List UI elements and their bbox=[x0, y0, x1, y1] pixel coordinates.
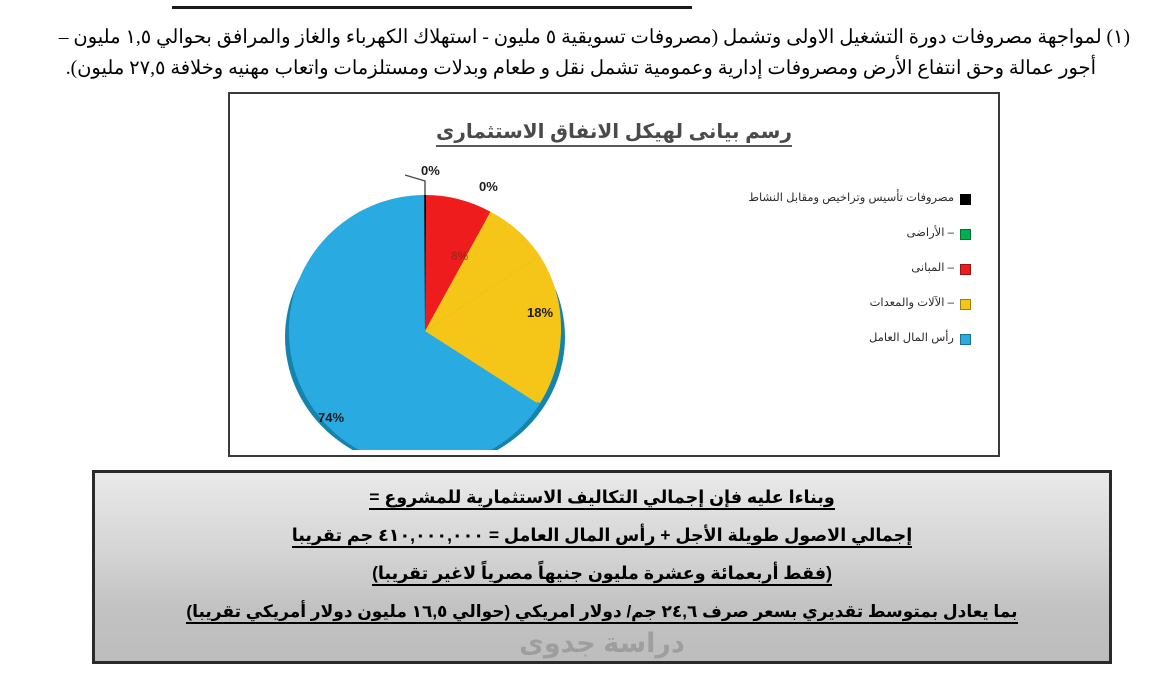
conclusion-line-4-text: بما يعادل بمتوسط تقديري بسعر صرف ٢٤,٦ جم… bbox=[186, 602, 1017, 624]
conclusion-line-3-text: (فقط أربعمائة وعشرة مليون جنيهاً مصرياً … bbox=[372, 563, 832, 586]
pie-label-buildings: 8% bbox=[451, 249, 468, 263]
legend-item-machinery: – الآلات والمعدات bbox=[719, 296, 971, 310]
legend-label-buildings: – المبانى bbox=[911, 261, 954, 275]
chart-frame: رسم بيانى لهيكل الانفاق الاستثمارى bbox=[228, 92, 1000, 457]
legend-swatch-icon-land bbox=[960, 229, 971, 240]
conclusion-line-2: إجمالي الاصول طويلة الأجل + رأس المال ال… bbox=[95, 525, 1109, 546]
pie-chart: 0% 0% 8% 18% 74% bbox=[273, 165, 653, 450]
legend-item-founding: مصروفات تأسيس وتراخيص ومقابل النشاط bbox=[719, 191, 971, 205]
legend-swatch-icon-buildings bbox=[960, 264, 971, 275]
conclusion-line-3: (فقط أربعمائة وعشرة مليون جنيهاً مصرياً … bbox=[95, 563, 1109, 584]
legend-label-land: – الأراضى bbox=[907, 226, 954, 240]
pie-label-machinery: 18% bbox=[527, 305, 553, 320]
legend-item-land: – الأراضى bbox=[719, 226, 971, 240]
pie-label-land: 0% bbox=[479, 179, 498, 194]
legend-label-machinery: – الآلات والمعدات bbox=[870, 296, 954, 310]
legend-swatch-icon-working-capital bbox=[960, 334, 971, 345]
conclusion-line-2-text: إجمالي الاصول طويلة الأجل + رأس المال ال… bbox=[292, 525, 913, 548]
pie-label-working-capital: 74% bbox=[318, 410, 344, 425]
legend-item-buildings: – المبانى bbox=[719, 261, 971, 275]
chart-legend: مصروفات تأسيس وتراخيص ومقابل النشاط – ال… bbox=[719, 191, 971, 366]
intro-paragraph: (١) لمواجهة مصروفات دورة التشغيل الاولى … bbox=[24, 22, 1130, 84]
legend-label-working-capital: رأس المال العامل bbox=[869, 331, 954, 345]
conclusion-box: وبناءا عليه فإن إجمالي التكاليف الاستثما… bbox=[92, 470, 1112, 664]
chart-title: رسم بيانى لهيكل الانفاق الاستثمارى bbox=[235, 119, 993, 144]
legend-label-founding: مصروفات تأسيس وتراخيص ومقابل النشاط bbox=[748, 191, 954, 205]
chart-plot-area: رسم بيانى لهيكل الانفاق الاستثمارى bbox=[235, 99, 993, 450]
chart-title-text: رسم بيانى لهيكل الانفاق الاستثمارى bbox=[436, 121, 792, 147]
conclusion-line-1-text: وبناءا عليه فإن إجمالي التكاليف الاستثما… bbox=[369, 487, 834, 510]
legend-item-working-capital: رأس المال العامل bbox=[719, 331, 971, 345]
legend-swatch-icon-founding bbox=[960, 194, 971, 205]
pie-label-founding: 0% bbox=[421, 163, 440, 178]
conclusion-line-1: وبناءا عليه فإن إجمالي التكاليف الاستثما… bbox=[95, 487, 1109, 508]
leader-line bbox=[405, 175, 425, 195]
legend-swatch-icon-machinery bbox=[960, 299, 971, 310]
pie-svg bbox=[273, 165, 653, 450]
paragraph-marker: (١) bbox=[1107, 27, 1130, 48]
paragraph-line-2: أجور عمالة وحق انتفاع الأرض ومصروفات إدا… bbox=[24, 53, 1130, 84]
top-divider bbox=[172, 6, 692, 9]
watermark: دراسة جدوى bbox=[95, 628, 1109, 659]
conclusion-line-4: بما يعادل بمتوسط تقديري بسعر صرف ٢٤,٦ جم… bbox=[95, 601, 1109, 622]
paragraph-line-1: لمواجهة مصروفات دورة التشغيل الاولى وتشم… bbox=[59, 27, 1102, 48]
